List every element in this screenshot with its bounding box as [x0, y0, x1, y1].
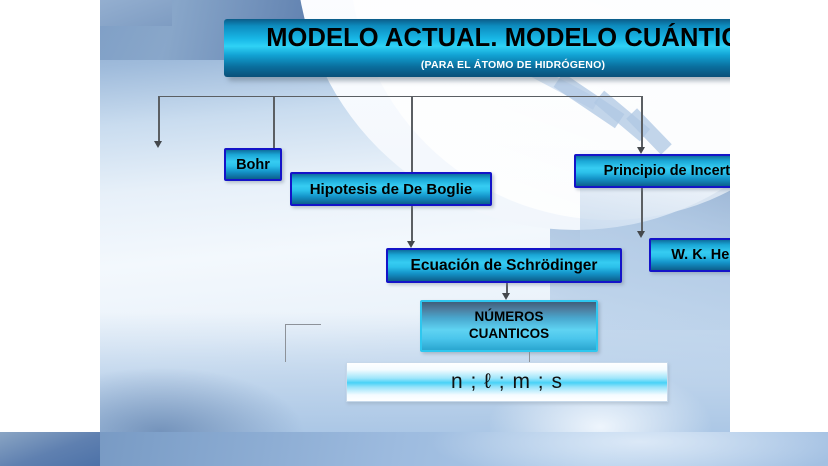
diagram-node-bohr[interactable]: Bohr [224, 148, 282, 181]
background-top-left-slab [100, 0, 172, 26]
bracket-left-vertical [285, 324, 286, 362]
slide-title: MODELO ACTUAL. MODELO CUÁNTICO [224, 26, 730, 52]
diagram-node-quantum-numbers[interactable]: n ; ℓ ; m ; s [346, 362, 668, 402]
arrow-head-schrodinger [407, 241, 415, 248]
diagram-node-numeros-cuanticos[interactable]: NÚMEROS CUANTICOS [420, 300, 598, 352]
numeros-label-line2: CUANTICOS [469, 326, 549, 343]
diagram-node-heisenberg[interactable]: W. K. Heisenberg [649, 238, 730, 272]
arrow-head-incertidumbre [637, 147, 645, 154]
arrow-head-numeros [502, 293, 510, 300]
arrow-head-heisenberg [637, 231, 645, 238]
slide-subtitle: (PARA EL ÁTOMO DE HIDRÓGENO) [224, 59, 730, 71]
diagram-node-incertidumbre[interactable]: Principio de Incertidumbre [574, 154, 730, 188]
connector-drop-schrodinger [411, 96, 413, 242]
bracket-left-horizontal [285, 324, 321, 325]
screenshot-canvas: MODELO ACTUAL. MODELO CUÁNTICO (PARA EL … [0, 0, 828, 466]
diagram-node-de-broglie[interactable]: Hipotesis de De Boglie [290, 172, 492, 206]
numeros-label-line1: NÚMEROS [474, 309, 543, 326]
outer-bottom-band [0, 432, 828, 466]
connector-incertidumbre-heisenberg [641, 184, 643, 232]
quantum-numbers-label: n ; ℓ ; m ; s [451, 370, 563, 394]
outer-bottom-band-left [0, 432, 100, 466]
slide-title-banner: MODELO ACTUAL. MODELO CUÁNTICO (PARA EL … [224, 19, 730, 77]
connector-drop-bohr [158, 96, 160, 142]
connector-drop-incertidumbre [641, 96, 643, 148]
connector-horizontal-main [158, 96, 642, 97]
diagram-node-schrodinger[interactable]: Ecuación de Schrödinger [386, 248, 622, 283]
arrow-head-bohr [154, 141, 162, 148]
presentation-slide: MODELO ACTUAL. MODELO CUÁNTICO (PARA EL … [100, 0, 730, 432]
